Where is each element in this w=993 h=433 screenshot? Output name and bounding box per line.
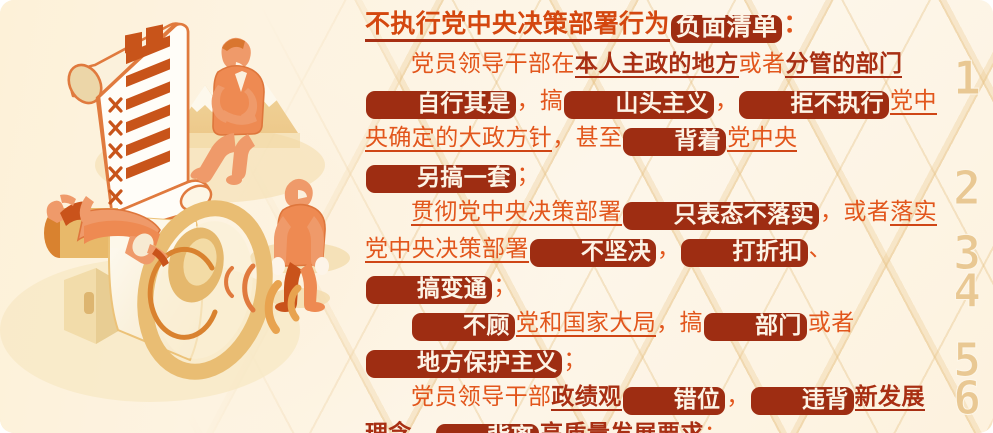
highlight-badge: 错位 [623, 387, 726, 415]
item-text: ， [726, 384, 749, 409]
highlight-badge: 不顾 [412, 313, 515, 341]
number-watermark-6: 6 [953, 375, 979, 421]
item-text: 政绩观 [551, 384, 621, 411]
item-text: 分管的部门 [785, 51, 902, 78]
item-text: 或者 [739, 51, 786, 76]
item-text: ，甚至 [552, 125, 622, 150]
list-item: 不顾党和国家大局，搞部门或者地方保护主义； [365, 304, 940, 378]
item-text: ， [517, 88, 540, 113]
item-text: 党和国家大局 [516, 310, 656, 337]
item-text: ，或者 [820, 199, 890, 224]
item-text: 贯彻党中央决策部署 [411, 199, 622, 226]
negative-list-items: 党员领导干部在本人主政的地方或者分管的部门自行其是，搞山头主义，拒不执行党中央确… [365, 45, 940, 433]
highlight-badge: 背离 [436, 424, 539, 433]
page-title-text: 不执行党中央决策部署行为 [365, 11, 670, 42]
item-text: ； [563, 347, 586, 372]
number-watermark-4: 4 [953, 268, 979, 314]
item-text: 党中 [727, 125, 774, 152]
item-text: 党员领导干部在 [411, 51, 575, 76]
item-text: 党员领导干部 [411, 384, 551, 409]
highlight-badge: 另搞一套 [366, 165, 516, 193]
number-watermark-2: 2 [953, 165, 979, 211]
item-text: 或者 [808, 310, 855, 335]
highlight-badge: 部门 [704, 313, 807, 341]
item-text: ， [657, 236, 680, 261]
highlight-badge: 背着 [623, 128, 726, 156]
list-item: 党员领导干部政绩观错位，违背新发展理念、背离高质量发展要求； [365, 378, 940, 433]
item-text: 发展要求 [610, 421, 704, 433]
list-item: 贯彻党中央决策部署只表态不落实，或者落实党中央决策部署不坚决，打折扣、搞变通； [365, 193, 940, 304]
illustration [0, 0, 370, 433]
highlight-badge: 自行其是 [366, 91, 516, 119]
item-text: ，搞 [656, 310, 703, 335]
highlight-badge: 打折扣 [681, 239, 807, 267]
list-item: 党员领导干部在本人主政的地方或者分管的部门自行其是，搞山头主义，拒不执行党中央确… [365, 45, 940, 193]
illustration-svg [0, 0, 370, 433]
title-badge: 负面清单 [671, 15, 783, 43]
item-text: 、 [809, 236, 832, 261]
item-text: 、 [412, 421, 435, 433]
highlight-badge: 不坚决 [530, 239, 656, 267]
walking-person-icon [270, 179, 330, 312]
item-text: ； [704, 421, 727, 433]
highlight-badge: 只表态不落实 [623, 202, 819, 230]
item-text: 高质量 [540, 421, 610, 433]
poster-card: 1 2 3 4 5 6 不执行党中央决策部署行为负面清单： 党员领导干部在本人主… [0, 0, 993, 433]
title-colon: ： [783, 11, 808, 38]
item-text: 央 [774, 125, 797, 152]
highlight-badge: 地方保护主义 [366, 350, 562, 378]
number-watermark-1: 1 [953, 55, 979, 101]
highlight-badge: 违背 [751, 387, 854, 415]
highlight-badge: 拒不执行 [739, 91, 889, 119]
item-text: ； [493, 273, 516, 298]
number-watermark-5: 5 [953, 337, 979, 383]
item-text: ， [715, 88, 738, 113]
highlight-badge: 搞变通 [366, 276, 492, 304]
highlight-badge: 山头主义 [564, 91, 714, 119]
page-title: 不执行党中央决策部署行为负面清单： [365, 6, 940, 43]
negative-list-content: 不执行党中央决策部署行为负面清单： 党员领导干部在本人主政的地方或者分管的部门自… [365, 6, 940, 433]
item-text: ； [517, 162, 540, 187]
number-watermark-3: 3 [953, 230, 979, 276]
item-text: 本人主政的地方 [575, 51, 739, 78]
item-text: 搞 [540, 88, 563, 113]
item-text: 部署 [482, 236, 529, 263]
